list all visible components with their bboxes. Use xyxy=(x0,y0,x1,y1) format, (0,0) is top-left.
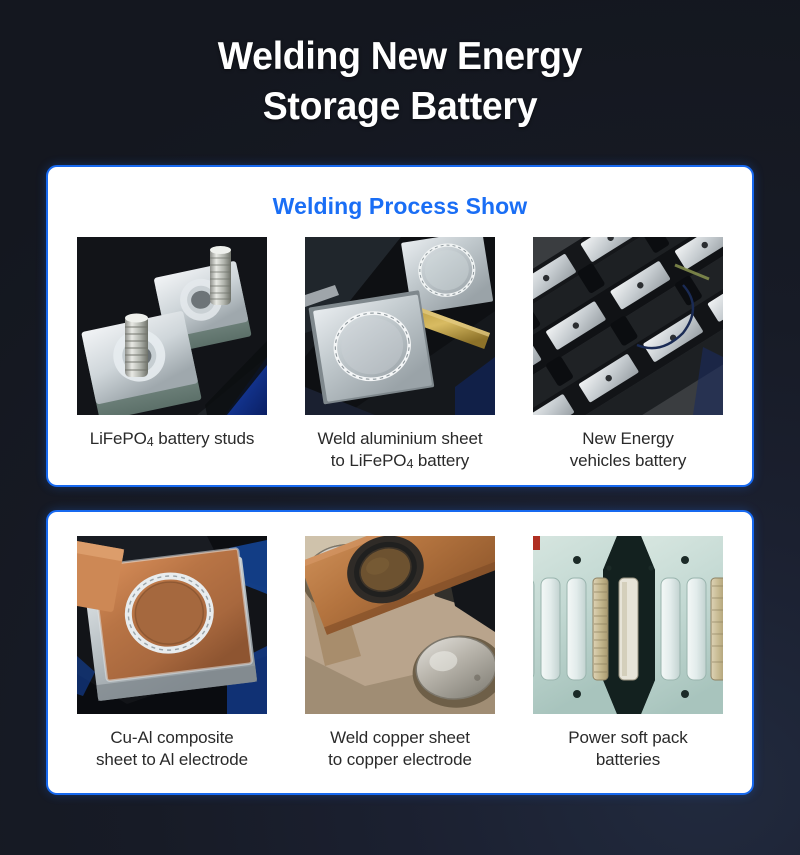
page-title-line-1: Welding New Energy xyxy=(16,32,784,82)
welding-process-card-top: Welding Process Show xyxy=(46,165,754,487)
welding-process-card-bottom: Cu-Al composite sheet to Al electrode xyxy=(46,510,754,795)
caption-line-2: vehicles battery xyxy=(570,450,687,472)
media-item-weld-copper-sheet[interactable]: Weld copper sheet to copper electrode xyxy=(305,536,495,771)
media-grid-row-2: Cu-Al composite sheet to Al electrode xyxy=(48,536,752,771)
lifepo4-battery-studs-photo xyxy=(77,237,267,415)
page-title: Welding New Energy Storage Battery xyxy=(16,32,784,132)
caption-text-rest: battery studs xyxy=(154,429,255,448)
caption-text: LiFePO xyxy=(90,429,147,448)
caption-lifepo4-battery-studs: LiFePO4 battery studs xyxy=(90,428,255,451)
page-title-line-2: Storage Battery xyxy=(16,82,784,132)
caption-line-2: batteries xyxy=(568,749,687,771)
caption-new-energy-vehicles-battery: New Energy vehicles battery xyxy=(570,428,687,472)
media-item-power-soft-pack-batteries[interactable]: Power soft pack batteries xyxy=(533,536,723,771)
caption-weld-copper-sheet: Weld copper sheet to copper electrode xyxy=(328,727,472,771)
new-energy-vehicles-battery-photo xyxy=(533,237,723,415)
media-item-weld-aluminium-sheet[interactable]: Weld aluminium sheet to LiFePO4 battery xyxy=(305,237,495,473)
weld-aluminium-sheet-photo xyxy=(305,237,495,415)
page-background: Welding New Energy Storage Battery Weldi… xyxy=(0,0,800,855)
caption-text: to LiFePO xyxy=(331,451,407,470)
media-item-lifepo4-battery-studs[interactable]: LiFePO4 battery studs xyxy=(77,237,267,451)
caption-weld-aluminium-sheet: Weld aluminium sheet to LiFePO4 battery xyxy=(318,428,483,473)
caption-line-1: Cu-Al composite xyxy=(96,727,248,749)
caption-text-rest: battery xyxy=(413,451,469,470)
caption-line-1: Weld aluminium sheet xyxy=(318,428,483,450)
caption-line-2: to copper electrode xyxy=(328,749,472,771)
caption-cu-al-composite-sheet: Cu-Al composite sheet to Al electrode xyxy=(96,727,248,771)
media-grid-row-1: LiFePO4 battery studs xyxy=(48,237,752,473)
caption-subscript: 4 xyxy=(147,435,154,449)
weld-copper-sheet-photo xyxy=(305,536,495,714)
caption-power-soft-pack-batteries: Power soft pack batteries xyxy=(568,727,687,771)
media-item-cu-al-composite-sheet[interactable]: Cu-Al composite sheet to Al electrode xyxy=(77,536,267,771)
caption-line-1: New Energy xyxy=(570,428,687,450)
media-item-new-energy-vehicles-battery[interactable]: New Energy vehicles battery xyxy=(533,237,723,472)
caption-subscript: 4 xyxy=(406,457,413,471)
power-soft-pack-batteries-photo xyxy=(533,536,723,714)
section-heading-welding-process: Welding Process Show xyxy=(48,167,752,220)
cu-al-composite-sheet-photo xyxy=(77,536,267,714)
caption-line-1: Weld copper sheet xyxy=(328,727,472,749)
caption-line-1: Power soft pack xyxy=(568,727,687,749)
caption-line-2: sheet to Al electrode xyxy=(96,749,248,771)
